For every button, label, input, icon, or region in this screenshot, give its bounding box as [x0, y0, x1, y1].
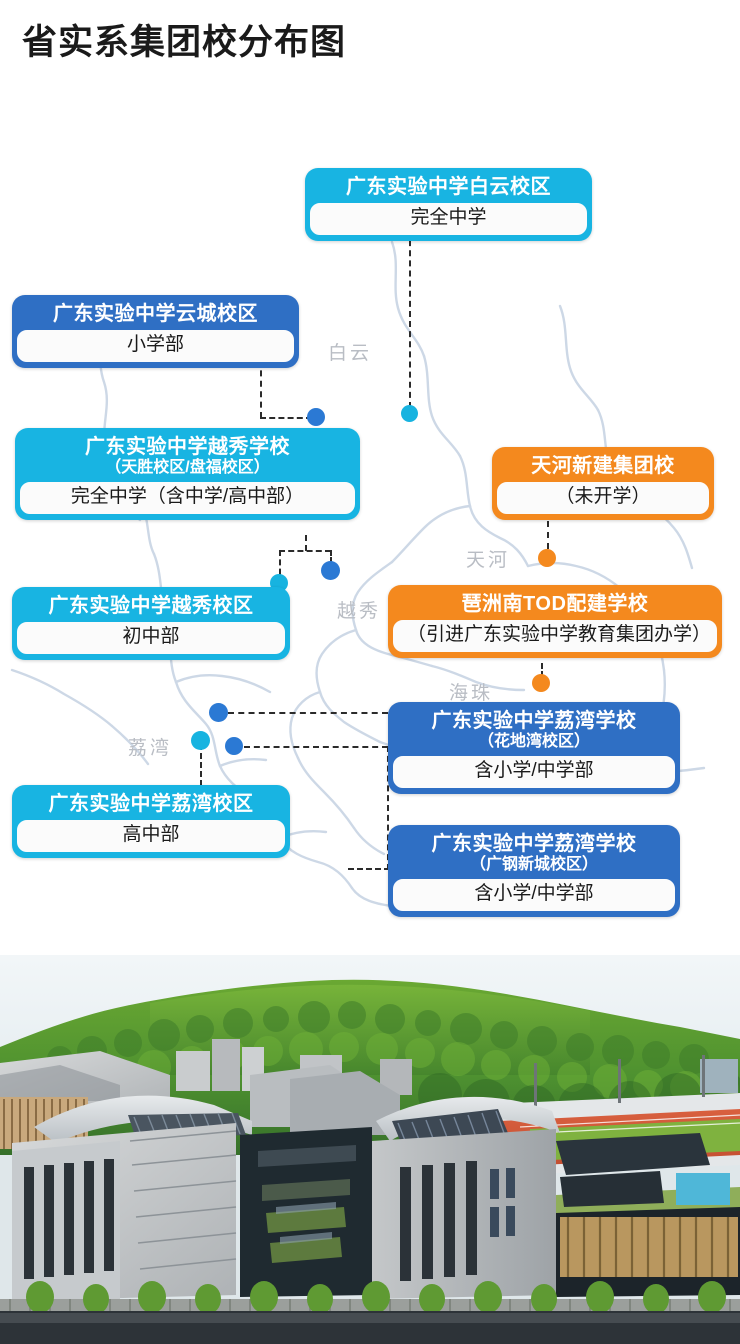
campus-photo — [0, 955, 740, 1344]
card-title: 广东实验中学云城校区 — [28, 303, 283, 325]
card-header: 广东实验中学荔湾学校 （广钢新城校区） — [392, 829, 676, 878]
card-detail: 含小学/中学部 — [392, 755, 676, 789]
map-pin-liwan-b[interactable] — [191, 731, 210, 750]
card-detail: 小学部 — [16, 329, 295, 363]
map-area: 白云 天河 越秀 海珠 荔湾 — [0, 110, 740, 955]
card-yuexiu-school[interactable]: 广东实验中学越秀学校 （天胜校区/盘福校区） 完全中学（含中学/高中部） — [15, 428, 360, 520]
district-label-haizhu: 海珠 — [449, 678, 493, 705]
map-pin-yuexiu-a[interactable] — [321, 561, 340, 580]
district-label-yuexiu: 越秀 — [337, 596, 381, 623]
card-title: 广东实验中学越秀学校 — [31, 436, 344, 458]
campus-photo-image — [0, 955, 740, 1344]
card-liwan-campus[interactable]: 广东实验中学荔湾校区 高中部 — [12, 785, 290, 858]
map-pin-liwan-a[interactable] — [209, 703, 228, 722]
card-title: 琶洲南TOD配建学校 — [404, 593, 706, 615]
district-label-liwan: 荔湾 — [128, 733, 172, 760]
card-yuncheng-campus[interactable]: 广东实验中学云城校区 小学部 — [12, 295, 299, 368]
card-detail: 完全中学（含中学/高中部） — [19, 481, 356, 515]
card-baiyun-campus[interactable]: 广东实验中学白云校区 完全中学 — [305, 168, 592, 241]
card-subtitle: （天胜校区/盘福校区） — [31, 459, 344, 477]
card-title: 广东实验中学荔湾校区 — [28, 793, 274, 815]
card-tianhe-new-group-school[interactable]: 天河新建集团校 （未开学） — [492, 447, 714, 520]
map-pin-tianhe[interactable] — [538, 549, 556, 567]
connector-yuncheng-h — [260, 417, 312, 419]
card-header: 广东实验中学白云校区 — [309, 172, 588, 202]
card-subtitle: （广钢新城校区） — [404, 856, 664, 874]
card-liwan-school-guanggang[interactable]: 广东实验中学荔湾学校 （广钢新城校区） 含小学/中学部 — [388, 825, 680, 917]
card-pazhounan-tod-school[interactable]: 琶洲南TOD配建学校 （引进广东实验中学教育集团办学） — [388, 585, 722, 658]
connector-baiyun — [409, 230, 411, 408]
connector-guanggang-h2 — [348, 868, 390, 870]
map-pin-baiyun[interactable] — [401, 405, 418, 422]
card-detail: 高中部 — [16, 819, 286, 853]
map-pin-haizhu[interactable] — [532, 674, 550, 692]
card-detail: 初中部 — [16, 621, 286, 655]
map-pin-liwan-c[interactable] — [225, 737, 243, 755]
card-title: 广东实验中学荔湾学校 — [404, 833, 664, 855]
card-header: 广东实验中学越秀学校 （天胜校区/盘福校区） — [19, 432, 356, 481]
district-label-baiyun: 白云 — [328, 338, 372, 365]
card-header: 广东实验中学越秀校区 — [16, 591, 286, 621]
connector-liwan-huadiwan — [228, 712, 388, 714]
connector-guanggang-h1 — [244, 746, 388, 748]
card-detail: （未开学） — [496, 481, 710, 515]
page-title: 省实系集团校分布图 — [22, 22, 346, 64]
card-title: 天河新建集团校 — [508, 455, 698, 477]
card-yuexiu-campus[interactable]: 广东实验中学越秀校区 初中部 — [12, 587, 290, 660]
card-liwan-school-huadiwan[interactable]: 广东实验中学荔湾学校 （花地湾校区） 含小学/中学部 — [388, 702, 680, 794]
card-header: 广东实验中学荔湾学校 （花地湾校区） — [392, 706, 676, 755]
connector-yuncheng-v — [260, 360, 262, 418]
card-subtitle: （花地湾校区） — [404, 733, 664, 751]
connector-yuexiu-stem — [305, 535, 307, 551]
card-detail: 含小学/中学部 — [392, 878, 676, 912]
connector-liwan-campus — [200, 744, 202, 786]
card-title: 广东实验中学白云校区 — [321, 176, 576, 198]
page-root: 省实系集团校分布图 — [0, 0, 740, 1344]
card-header: 广东实验中学云城校区 — [16, 299, 295, 329]
district-label-tianhe: 天河 — [466, 545, 510, 572]
card-header: 广东实验中学荔湾校区 — [16, 789, 286, 819]
card-header: 琶洲南TOD配建学校 — [392, 589, 718, 619]
map-pin-yuncheng[interactable] — [307, 408, 325, 426]
card-title: 广东实验中学荔湾学校 — [404, 710, 664, 732]
card-title: 广东实验中学越秀校区 — [28, 595, 274, 617]
card-header: 天河新建集团校 — [496, 451, 710, 481]
card-detail: （引进广东实验中学教育集团办学） — [392, 619, 718, 653]
card-detail: 完全中学 — [309, 202, 588, 236]
